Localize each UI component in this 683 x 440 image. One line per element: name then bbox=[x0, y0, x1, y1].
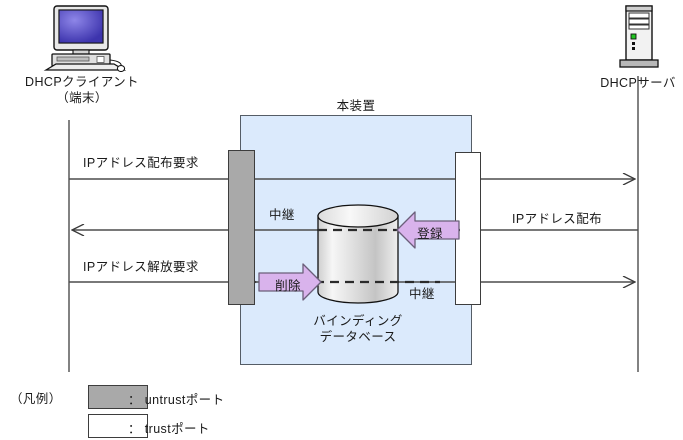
relay-label-lower: 中継 bbox=[409, 283, 435, 302]
relay-label-upper: 中継 bbox=[269, 204, 295, 223]
untrust-port-box bbox=[228, 150, 255, 305]
legend-trust-label: ： trustポート bbox=[128, 418, 210, 437]
diagram-canvas: DHCPクライアント （端末） DHCPサーバ 本装置 bbox=[0, 0, 683, 440]
flow-label-ip-release-request: IPアドレス解放要求 bbox=[83, 256, 199, 275]
delete-arrow-label: 削除 bbox=[260, 275, 316, 294]
legend-untrust-label: ： untrustポート bbox=[128, 389, 225, 408]
flow-label-ip-distribute: IPアドレス配布 bbox=[512, 208, 602, 227]
database-caption: バインディング データベース bbox=[286, 313, 430, 345]
legend-title: （凡例） bbox=[10, 388, 62, 407]
database-caption-line2: データベース bbox=[286, 329, 430, 345]
flow-label-ip-distribute-request: IPアドレス配布要求 bbox=[83, 152, 199, 171]
database-caption-line1: バインディング bbox=[286, 313, 430, 329]
register-arrow-label: 登録 bbox=[402, 223, 458, 242]
